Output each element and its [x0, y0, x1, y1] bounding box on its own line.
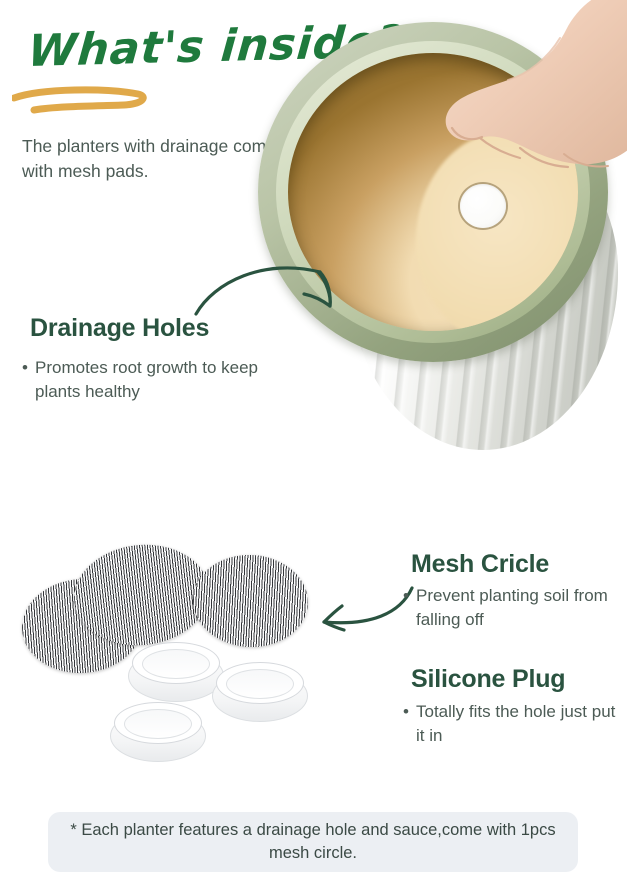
plug-inner-ring: [142, 649, 210, 679]
plug-inner-ring: [226, 669, 294, 699]
silicone-plug: [128, 642, 224, 704]
hand-holding-pot: [388, 0, 627, 188]
bullet-text: Promotes root growth to keep plants heal…: [22, 356, 272, 404]
footnote-text: * Each planter features a drainage hole …: [48, 819, 578, 865]
heading-mesh-circle: Mesh Cricle: [411, 550, 549, 579]
bullet-mesh-circle: • Prevent planting soil from falling off: [403, 584, 613, 632]
drainage-hole: [460, 184, 506, 228]
plug-inner-ring: [124, 709, 192, 739]
curved-arrow-right-down-icon: [190, 248, 360, 328]
bullet-drainage-holes: • Promotes root growth to keep plants he…: [22, 356, 272, 404]
mesh-circle: [191, 552, 311, 650]
heading-silicone-plug: Silicone Plug: [411, 665, 565, 694]
bullet-marker: •: [22, 356, 28, 380]
brush-swash-underline-icon: [12, 86, 162, 116]
bullet-text: Prevent planting soil from falling off: [403, 584, 613, 632]
bullet-marker: •: [403, 700, 409, 724]
bullet-text: Totally fits the hole just put it in: [403, 700, 618, 748]
silicone-plug: [110, 702, 206, 764]
silicone-plug: [212, 662, 308, 724]
bullet-silicone-plug: • Totally fits the hole just put it in: [403, 700, 618, 748]
heading-drainage-holes: Drainage Holes: [30, 314, 209, 343]
footnote-box: * Each planter features a drainage hole …: [48, 812, 578, 872]
silicone-plugs-group: [100, 640, 310, 770]
infographic-page: What's inside? The planters with drainag…: [0, 0, 627, 879]
bullet-marker: •: [403, 584, 409, 608]
